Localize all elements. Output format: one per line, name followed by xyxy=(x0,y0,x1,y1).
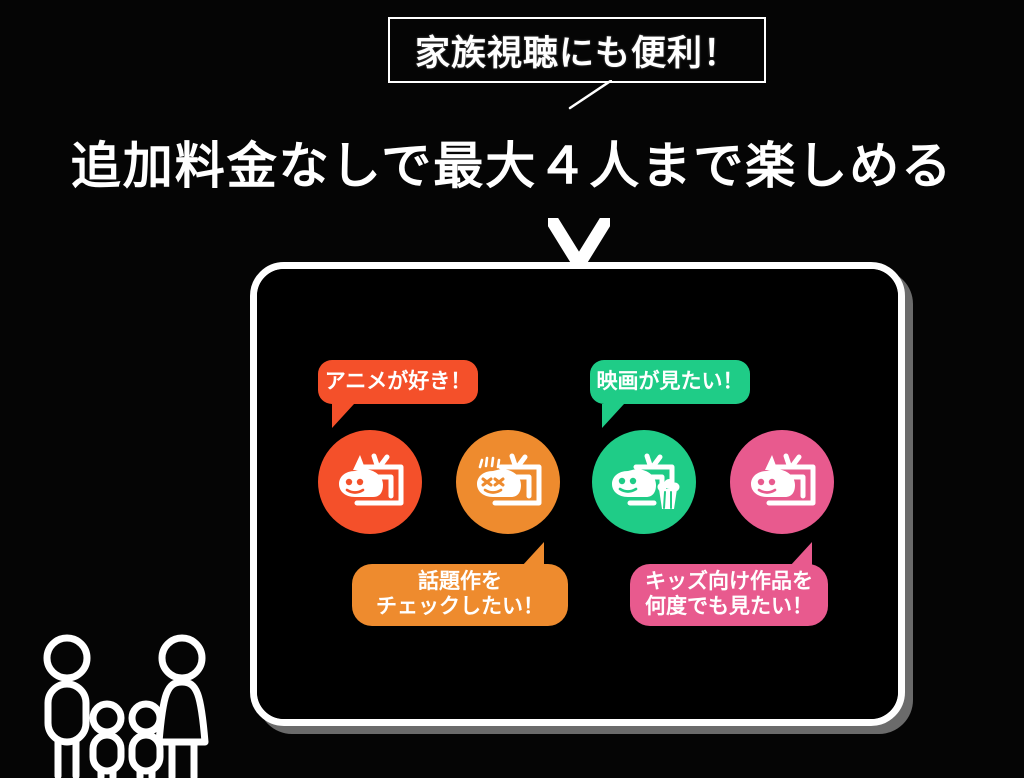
creature-eye-left xyxy=(758,479,764,485)
speech-bubble-tail-icon xyxy=(602,404,624,428)
family-member-adult-body xyxy=(48,684,86,742)
speech-bubble-movie-label: 映画が見たい！ xyxy=(597,370,744,395)
callout-badge: 家族視聴にも便利！ xyxy=(388,17,766,83)
speech-bubble-movie: 映画が見たい！ xyxy=(590,360,750,404)
callout-tail-icon xyxy=(568,80,612,110)
callout-badge-label: 家族視聴にも便利！ xyxy=(390,19,764,81)
speech-bubble-tail-icon xyxy=(522,542,544,566)
speech-bubble-anime: アニメが好き！ xyxy=(318,360,478,404)
profile-avatar-2[interactable] xyxy=(456,430,560,534)
family-member-child2-head xyxy=(132,704,160,732)
speech-bubble-kids: キッズ向け作品を 何度でも見たい！ xyxy=(630,564,828,626)
family-group-icon xyxy=(22,630,237,778)
speech-bubble-tail-icon xyxy=(332,404,354,428)
profile-avatar-3[interactable] xyxy=(592,430,696,534)
page-title: 追加料金なしで最大４人まで楽しめる xyxy=(0,126,1024,198)
creature-eye-left xyxy=(346,479,352,485)
sparkle-creature-tv-icon xyxy=(471,451,545,513)
party-creature-tv-icon xyxy=(333,451,407,513)
profile-avatar-4[interactable] xyxy=(730,430,834,534)
speech-bubble-trend: 話題作を チェックしたい！ xyxy=(352,564,568,626)
popcorn-bucket-icon xyxy=(658,479,680,509)
speech-bubble-trend-label: 話題作を チェックしたい！ xyxy=(376,570,544,620)
party-hat-shape xyxy=(765,455,778,471)
party-hat-shape xyxy=(353,455,366,471)
family-member-child1-body xyxy=(93,735,121,771)
popcorn-creature-tv-icon xyxy=(606,451,682,513)
profile-avatar-1[interactable] xyxy=(318,430,422,534)
promo-slide: 家族視聴にも便利！ 追加料金なしで最大４人まで楽しめる アニメが好き！ 映画が見… xyxy=(0,0,1024,778)
family-member-woman-body xyxy=(159,682,205,742)
family-member-woman-head xyxy=(162,638,202,678)
creature-eye-right xyxy=(357,479,363,485)
family-member-child1-head xyxy=(93,704,121,732)
speech-bubble-anime-label: アニメが好き！ xyxy=(325,370,472,395)
family-member-adult-head xyxy=(47,638,87,678)
creature-eye-left xyxy=(619,478,625,484)
creature-eye-right xyxy=(630,478,636,484)
creature-eye-right xyxy=(769,479,775,485)
sparkle-lines-icon xyxy=(480,458,499,467)
speech-bubble-tail-icon xyxy=(790,542,812,566)
speech-bubble-kids-label: キッズ向け作品を 何度でも見たい！ xyxy=(645,570,813,620)
party-creature-tv-icon xyxy=(745,451,819,513)
